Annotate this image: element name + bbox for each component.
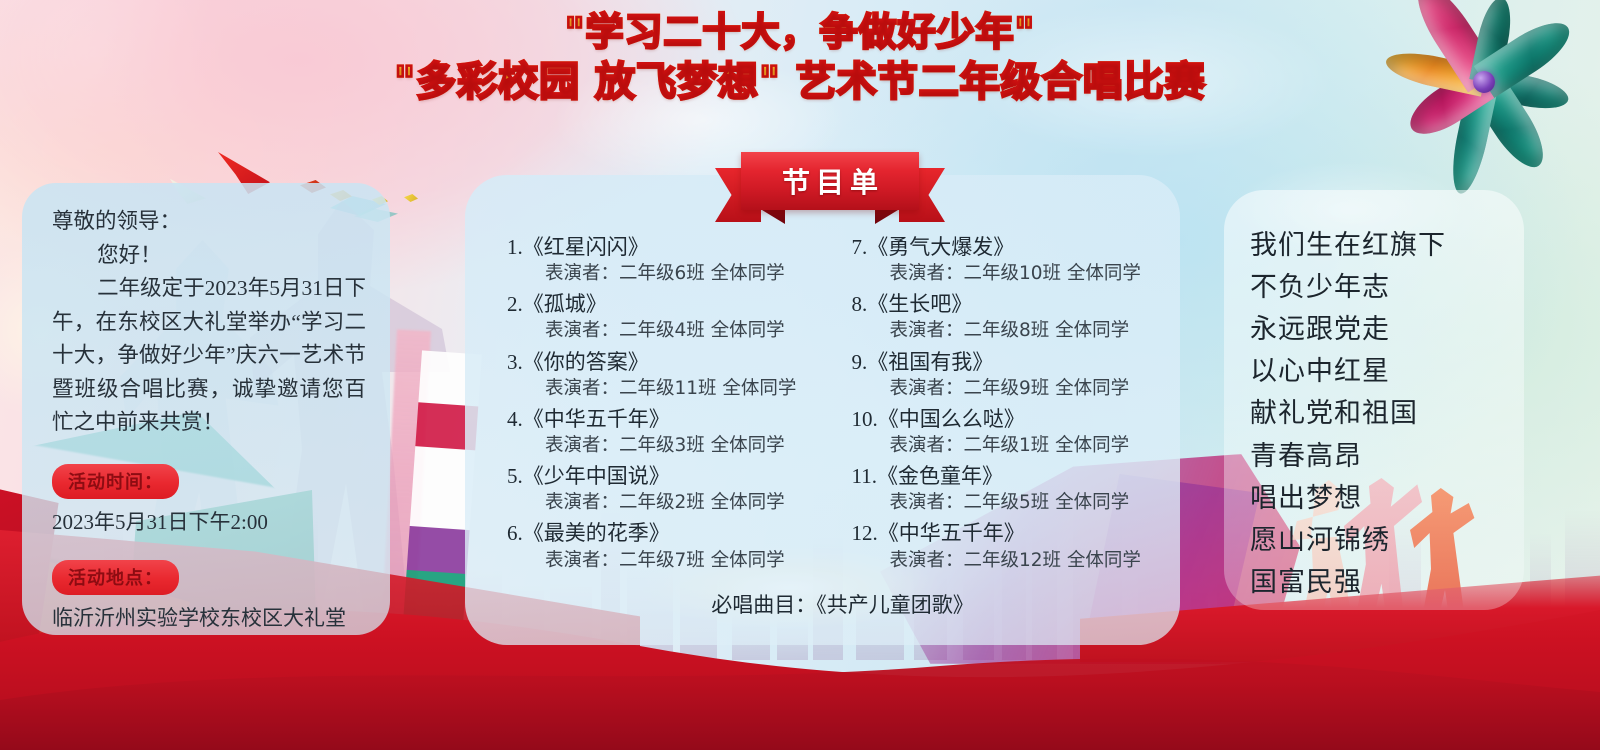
- program-item-title: 8.《生长吧》: [834, 290, 1157, 318]
- program-item-performer: 表演者：二年级5班 全体同学: [834, 490, 1157, 515]
- ribbon-label: 节目单: [776, 161, 884, 201]
- slogan-line: 国富民强: [1250, 561, 1508, 603]
- program-item-performer: 表演者：二年级1班 全体同学: [834, 433, 1157, 458]
- program-item-title: 10.《中国么么哒》: [834, 405, 1157, 433]
- slogan-line: 以心中红星: [1250, 350, 1508, 392]
- program-item-title: 12.《中华五千年》: [834, 519, 1157, 547]
- program-item-title: 11.《金色童年》: [834, 462, 1157, 490]
- poster-title: "学习二十大，争做好少年" "多彩校园 放飞梦想" 艺术节二年级合唱比赛: [0, 10, 1600, 106]
- invitation-greeting: 您好！: [52, 239, 366, 273]
- title-line-2: "多彩校园 放飞梦想" 艺术节二年级合唱比赛: [0, 59, 1600, 106]
- slogan-line: 愿山河锦绣: [1250, 519, 1508, 561]
- program-item-performer: 表演者：二年级2班 全体同学: [489, 490, 812, 515]
- program-item-performer: 表演者：二年级11班 全体同学: [489, 376, 812, 401]
- program-column-right: 7.《勇气大爆发》表演者：二年级10班 全体同学8.《生长吧》表演者：二年级8班…: [828, 233, 1163, 577]
- program-item-performer: 表演者：二年级12班 全体同学: [834, 548, 1157, 573]
- slogan-line: 我们生在红旗下: [1250, 224, 1508, 266]
- program-item-performer: 表演者：二年级4班 全体同学: [489, 318, 812, 343]
- program-item-title: 3.《你的答案》: [489, 348, 812, 376]
- program-item: 5.《少年中国说》表演者：二年级2班 全体同学: [489, 462, 812, 515]
- program-item: 7.《勇气大爆发》表演者：二年级10班 全体同学: [834, 233, 1157, 286]
- program-item: 12.《中华五千年》表演者：二年级12班 全体同学: [834, 519, 1157, 572]
- program-ribbon-banner: 节目单: [715, 150, 945, 222]
- program-item-performer: 表演者：二年级10班 全体同学: [834, 261, 1157, 286]
- program-item-title: 4.《中华五千年》: [489, 405, 812, 433]
- program-item: 9.《祖国有我》表演者：二年级9班 全体同学: [834, 348, 1157, 401]
- event-place-value: 临沂沂州实验学校东校区大礼堂: [52, 602, 366, 632]
- program-item: 6.《最美的花季》表演者：二年级7班 全体同学: [489, 519, 812, 572]
- invitation-salutation: 尊敬的领导：: [52, 205, 366, 239]
- program-item-title: 1.《红星闪闪》: [489, 233, 812, 261]
- program-item-performer: 表演者：二年级6班 全体同学: [489, 261, 812, 286]
- ribbon-body: 节目单: [741, 152, 919, 210]
- program-item: 2.《孤城》表演者：二年级4班 全体同学: [489, 290, 812, 343]
- program-list-panel: 1.《红星闪闪》表演者：二年级6班 全体同学2.《孤城》表演者：二年级4班 全体…: [465, 175, 1180, 645]
- slogan-line: 献礼党和祖国: [1250, 392, 1508, 434]
- program-item: 10.《中国么么哒》表演者：二年级1班 全体同学: [834, 405, 1157, 458]
- program-column-left: 1.《红星闪闪》表演者：二年级6班 全体同学2.《孤城》表演者：二年级4班 全体…: [483, 233, 818, 577]
- small-bird-icon-4: [404, 194, 418, 202]
- program-item-title: 7.《勇气大爆发》: [834, 233, 1157, 261]
- invitation-paragraph: 二年级定于2023年5月31日下午，在东校区大礼堂举办“学习二十大，争做好少年”…: [52, 272, 366, 440]
- program-item-title: 2.《孤城》: [489, 290, 812, 318]
- program-item: 1.《红星闪闪》表演者：二年级6班 全体同学: [489, 233, 812, 286]
- program-item-title: 5.《少年中国说》: [489, 462, 812, 490]
- program-item: 3.《你的答案》表演者：二年级11班 全体同学: [489, 348, 812, 401]
- slogan-line: 青春高昂: [1250, 435, 1508, 477]
- program-item-performer: 表演者：二年级3班 全体同学: [489, 433, 812, 458]
- event-time-badge: 活动时间：: [52, 464, 179, 499]
- program-item-title: 9.《祖国有我》: [834, 348, 1157, 376]
- slogan-panel: 我们生在红旗下不负少年志永远跟党走以心中红星献礼党和祖国青春高昂唱出梦想愿山河锦…: [1224, 190, 1524, 610]
- event-time-value: 2023年5月31日下午2:00: [52, 506, 366, 536]
- event-place-block: 活动地点： 临沂沂州实验学校东校区大礼堂: [52, 560, 366, 632]
- program-item: 8.《生长吧》表演者：二年级8班 全体同学: [834, 290, 1157, 343]
- invitation-panel: 尊敬的领导： 您好！ 二年级定于2023年5月31日下午，在东校区大礼堂举办“学…: [22, 183, 390, 635]
- required-song: 必唱曲目：《共产儿童团歌》: [483, 589, 1162, 619]
- event-time-block: 活动时间： 2023年5月31日下午2:00: [52, 464, 366, 536]
- program-item-performer: 表演者：二年级9班 全体同学: [834, 376, 1157, 401]
- poster-canvas: "学习二十大，争做好少年" "多彩校园 放飞梦想" 艺术节二年级合唱比赛 节目单…: [0, 0, 1600, 750]
- slogan-line: 永远跟党走: [1250, 308, 1508, 350]
- program-item-title: 6.《最美的花季》: [489, 519, 812, 547]
- program-item: 11.《金色童年》表演者：二年级5班 全体同学: [834, 462, 1157, 515]
- program-item-performer: 表演者：二年级7班 全体同学: [489, 548, 812, 573]
- program-item: 4.《中华五千年》表演者：二年级3班 全体同学: [489, 405, 812, 458]
- program-item-performer: 表演者：二年级8班 全体同学: [834, 318, 1157, 343]
- title-line-1: "学习二十大，争做好少年": [0, 10, 1600, 55]
- slogan-line: 不负少年志: [1250, 266, 1508, 308]
- event-place-badge: 活动地点：: [52, 560, 179, 595]
- slogan-line: 唱出梦想: [1250, 477, 1508, 519]
